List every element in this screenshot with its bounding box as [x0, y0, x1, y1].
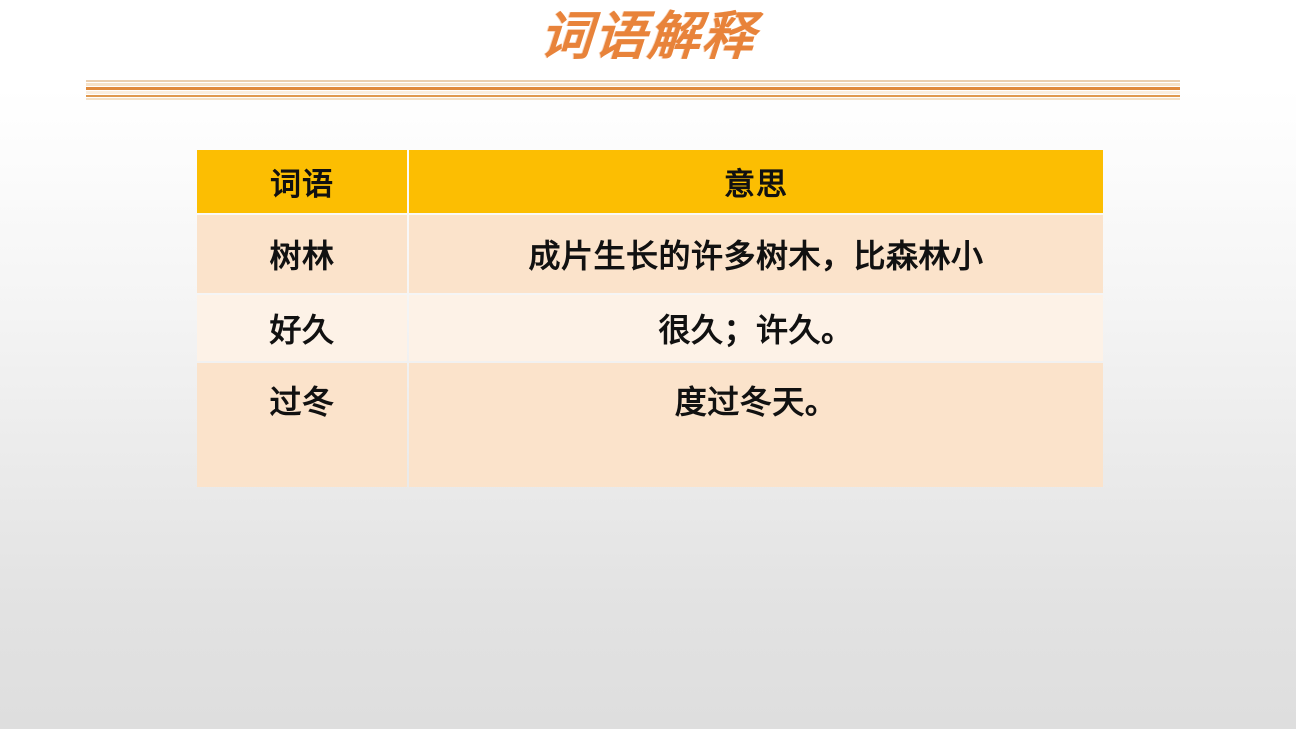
- divider-line-5: [86, 95, 1180, 97]
- table-header: 词语 意思: [197, 150, 1103, 213]
- column-header-meaning: 意思: [409, 150, 1103, 213]
- divider-line-6: [86, 98, 1180, 100]
- cell-meaning: 度过冬天。: [409, 363, 1103, 487]
- table-body: 树林 成片生长的许多树木，比森林小 好久 很久；许久。 过冬 度过冬天。: [197, 215, 1103, 487]
- cell-word: 好久: [197, 295, 407, 361]
- cell-word: 过冬: [197, 363, 407, 487]
- divider-line-1: [86, 80, 1180, 82]
- table-row: 树林 成片生长的许多树木，比森林小: [197, 215, 1103, 293]
- divider-line-2: [86, 83, 1180, 86]
- table-row: 过冬 度过冬天。: [197, 363, 1103, 487]
- vocabulary-table: 词语 意思 树林 成片生长的许多树木，比森林小 好久 很久；许久。 过冬 度过冬…: [195, 148, 1105, 489]
- slide-canvas: 词语解释 词语 意思 树林 成片生长的许多树木，比森林小 好久 很久: [0, 0, 1296, 729]
- cell-meaning: 成片生长的许多树木，比森林小: [409, 215, 1103, 293]
- cell-word: 树林: [197, 215, 407, 293]
- title-block: 词语解释: [0, 8, 1296, 65]
- title-divider-rules: [86, 80, 1180, 102]
- column-header-word: 词语: [197, 150, 407, 213]
- divider-line-3: [86, 87, 1180, 90]
- page-title: 词语解释: [538, 8, 758, 65]
- table-row: 好久 很久；许久。: [197, 295, 1103, 361]
- table-header-row: 词语 意思: [197, 150, 1103, 213]
- cell-meaning: 很久；许久。: [409, 295, 1103, 361]
- divider-line-4: [86, 91, 1180, 94]
